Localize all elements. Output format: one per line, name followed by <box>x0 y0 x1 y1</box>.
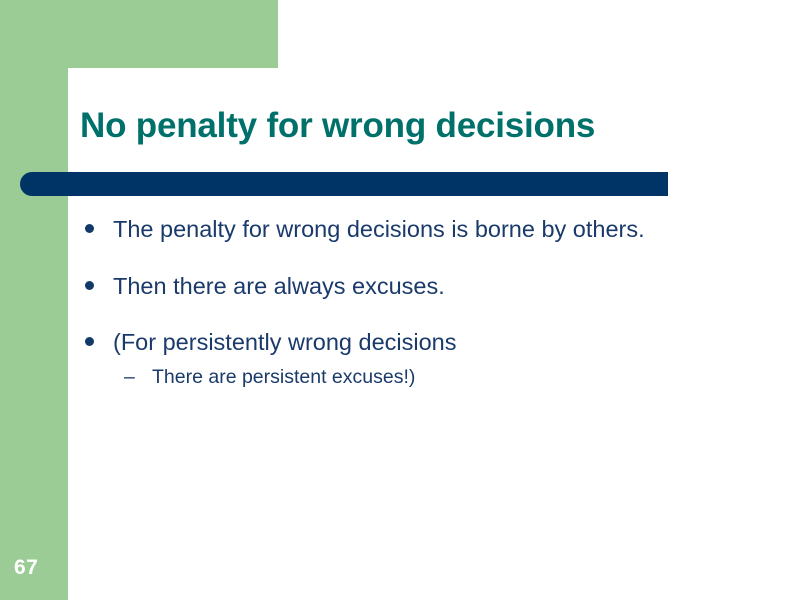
bullet-dot-icon <box>85 281 94 290</box>
bullet-list: The penalty for wrong decisions is borne… <box>80 214 740 390</box>
left-green-sidebar <box>0 0 68 600</box>
dash-bullet-icon: – <box>124 364 135 390</box>
page-number: 67 <box>14 556 38 580</box>
title-divider-bar <box>20 172 668 196</box>
list-item-label: Then there are always excuses. <box>113 271 740 302</box>
bullet-dot-icon <box>85 224 94 233</box>
list-spacer <box>80 245 740 271</box>
sub-list-item-label: There are persistent excuses!) <box>152 364 740 390</box>
top-green-band <box>68 0 278 68</box>
list-item: Then there are always excuses. <box>80 271 740 302</box>
list-item-label: The penalty for wrong decisions is borne… <box>113 214 740 245</box>
presentation-slide: No penalty for wrong decisions The penal… <box>0 0 800 600</box>
bullet-dot-icon <box>85 337 94 346</box>
list-item: The penalty for wrong decisions is borne… <box>80 214 740 245</box>
list-item: (For persistently wrong decisions <box>80 327 740 358</box>
list-spacer <box>80 303 740 327</box>
list-item-label: (For persistently wrong decisions <box>113 327 740 358</box>
sub-list-item: – There are persistent excuses!) <box>80 364 740 390</box>
page-title: No penalty for wrong decisions <box>80 106 780 146</box>
